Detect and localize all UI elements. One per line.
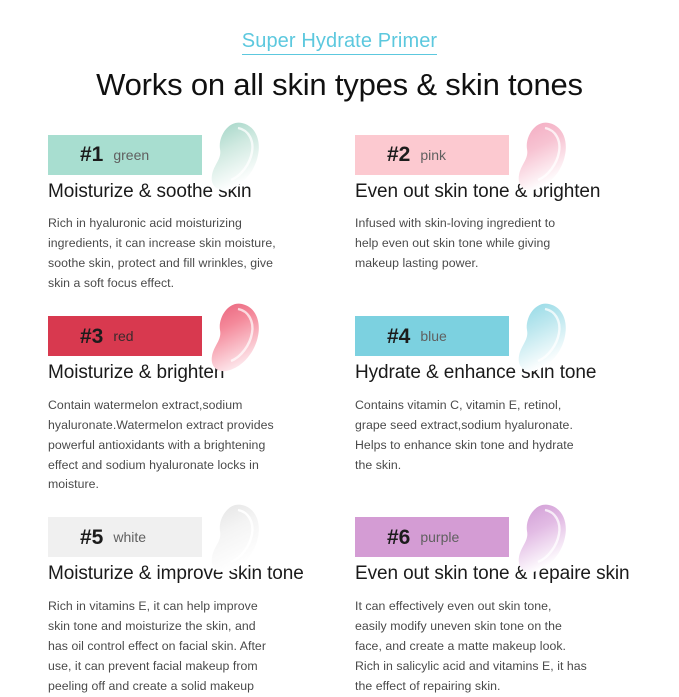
card-description: It can effectively even out skin tone, e… bbox=[355, 597, 640, 697]
card-band-row: #5 white bbox=[48, 503, 333, 565]
band-number: #6 bbox=[387, 527, 410, 548]
color-band: #2 pink bbox=[355, 135, 509, 175]
benefit-card: #4 blue bbox=[355, 302, 640, 495]
card-title: Hydrate & enhance skin tone bbox=[355, 362, 640, 385]
benefit-card: #6 purple bbox=[355, 503, 640, 696]
benefit-card-grid: #1 green bbox=[0, 121, 679, 697]
card-band-row: #6 purple bbox=[355, 503, 640, 565]
card-title: Even out skin tone & brighten bbox=[355, 181, 640, 204]
color-band: #6 purple bbox=[355, 517, 509, 557]
page-headline: Works on all skin types & skin tones bbox=[0, 67, 679, 103]
card-title: Moisturize & brighten bbox=[48, 362, 333, 385]
color-band: #5 white bbox=[48, 517, 202, 557]
card-title: Even out skin tone & repaire skin bbox=[355, 563, 640, 586]
band-number: #5 bbox=[80, 527, 103, 548]
benefit-card: #3 red bbox=[48, 302, 333, 495]
card-band-row: #2 pink bbox=[355, 121, 640, 183]
band-number: #3 bbox=[80, 326, 103, 347]
card-band-row: #1 green bbox=[48, 121, 333, 183]
band-color-name: purple bbox=[420, 530, 459, 544]
band-number: #2 bbox=[387, 144, 410, 165]
card-description: Rich in vitamins E, it can help improve … bbox=[48, 597, 333, 697]
band-color-name: green bbox=[113, 148, 149, 162]
band-number: #4 bbox=[387, 326, 410, 347]
card-description: Rich in hyaluronic acid moisturizing ing… bbox=[48, 214, 333, 294]
color-band: #4 blue bbox=[355, 316, 509, 356]
color-band: #1 green bbox=[48, 135, 202, 175]
band-number: #1 bbox=[80, 144, 103, 165]
band-color-name: pink bbox=[420, 148, 446, 162]
benefit-card: #5 white bbox=[48, 503, 333, 696]
card-description: Infused with skin-loving ingredient to h… bbox=[355, 214, 640, 274]
card-band-row: #4 blue bbox=[355, 302, 640, 364]
benefit-card: #2 pink bbox=[355, 121, 640, 294]
band-color-name: blue bbox=[420, 329, 446, 343]
card-title: Moisturize & soothe skin bbox=[48, 181, 333, 204]
card-title: Moisturize & improve skin tone bbox=[48, 563, 333, 586]
card-description: Contain watermelon extract,sodium hyalur… bbox=[48, 396, 333, 496]
card-description: Contains vitamin C, vitamin E, retinol, … bbox=[355, 396, 640, 476]
card-band-row: #3 red bbox=[48, 302, 333, 364]
benefit-card: #1 green bbox=[48, 121, 333, 294]
brand-header: Super Hydrate Primer bbox=[0, 0, 679, 55]
infographic-page: Super Hydrate Primer Works on all skin t… bbox=[0, 0, 679, 679]
band-color-name: white bbox=[113, 530, 146, 544]
brand-title-link[interactable]: Super Hydrate Primer bbox=[242, 30, 437, 55]
color-band: #3 red bbox=[48, 316, 202, 356]
band-color-name: red bbox=[113, 329, 133, 343]
